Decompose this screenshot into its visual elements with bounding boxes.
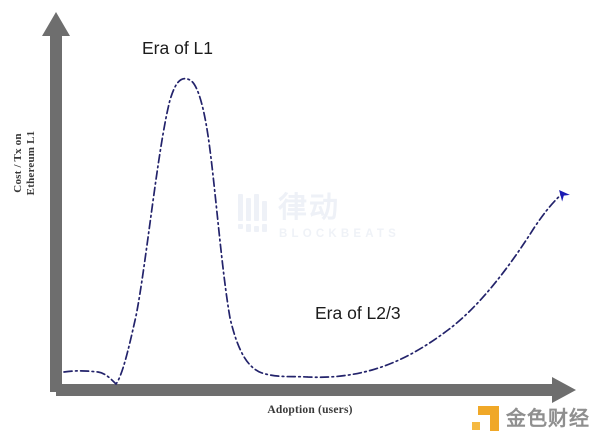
chart-canvas — [0, 0, 600, 439]
x-axis-label: Adoption (users) — [215, 404, 405, 416]
jinse-logo-icon — [472, 406, 499, 431]
chart-figure: Cost / Tx on Ethereum L1 Adoption (users… — [0, 0, 600, 439]
annotation-era-of-l2-3: Era of L2/3 — [315, 303, 401, 324]
jinse-brand-text: 金色财经 — [506, 406, 590, 430]
y-axis-label: Cost / Tx on Ethereum L1 — [12, 103, 38, 223]
y-axis-arrow — [42, 12, 70, 392]
cost-curve — [64, 79, 562, 384]
jinse-brand: 金色财经 — [472, 403, 590, 433]
x-axis-arrow — [56, 377, 576, 403]
annotation-era-of-l1: Era of L1 — [142, 38, 213, 59]
